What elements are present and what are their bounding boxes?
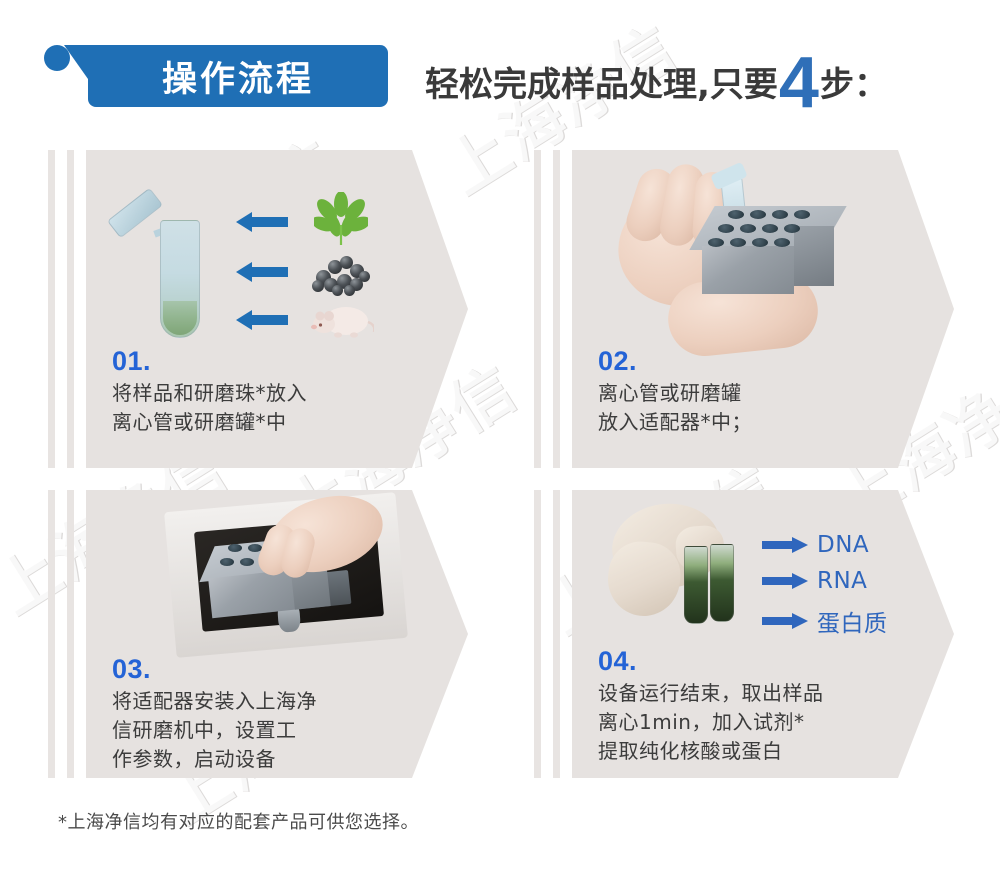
- output-label-protein: 蛋白质: [817, 604, 888, 638]
- adapter-block-front: [702, 246, 794, 294]
- infographic-page: 操作流程 轻松完成样品处理,只要 4 步：: [0, 0, 1000, 875]
- grinding-beads-icon: [312, 254, 370, 292]
- step-card-01: 01. 将样品和研磨珠*放入 离心管或研磨罐*中: [48, 150, 468, 468]
- card-accent-stripe-inner: [553, 490, 560, 778]
- output-row-protein: 蛋白质: [762, 604, 888, 638]
- lab-mouse-icon: [310, 300, 372, 340]
- tagline-text-post: 步：: [820, 62, 888, 108]
- output-arrow-rna-icon: [762, 573, 808, 589]
- tagline-step-count: 4: [779, 54, 819, 112]
- header-tagline: 轻松完成样品处理,只要 4 步：: [425, 44, 888, 108]
- output-row-rna: RNA: [762, 568, 867, 594]
- card-accent-stripe-inner: [553, 150, 560, 468]
- tube-sample-liquid: [163, 301, 197, 335]
- card-accent-stripe-inner: [67, 150, 74, 468]
- sample-vial-left: [684, 546, 708, 624]
- input-arrow-beads-icon: [236, 262, 288, 282]
- adapter-block-side: [794, 226, 834, 286]
- output-arrow-dna-icon: [762, 537, 808, 553]
- step-card-02: 02. 离心管或研磨罐 放入适配器*中；: [534, 150, 954, 468]
- card-accent-stripe-outer: [48, 490, 55, 778]
- output-arrow-protein-icon: [762, 613, 808, 629]
- footnote-text: *上海净信均有对应的配套产品可供您选择。: [58, 808, 419, 834]
- step-01-number: 01.: [112, 346, 307, 376]
- step-03-illustration: [86, 490, 468, 658]
- step-03-description: 将适配器安装入上海净 信研磨机中，设置工 作参数，启动设备: [112, 687, 317, 774]
- output-row-dna: DNA: [762, 532, 869, 558]
- input-arrow-leaf-icon: [236, 212, 288, 232]
- step-02-text-block: 02. 离心管或研磨罐 放入适配器*中；: [598, 346, 752, 437]
- step-card-03: 03. 将适配器安装入上海净 信研磨机中，设置工 作参数，启动设备: [48, 490, 468, 778]
- card-accent-stripe-outer: [48, 150, 55, 468]
- output-label-dna: DNA: [817, 532, 869, 558]
- card-body: DNA RNA 蛋白质: [572, 490, 954, 778]
- step-02-description: 离心管或研磨罐 放入适配器*中；: [598, 379, 752, 437]
- step-04-text-block: 04. 设备运行结束，取出样品 离心1min，加入试剂* 提取纯化核酸或蛋白: [598, 646, 824, 766]
- step-04-number: 04.: [598, 646, 824, 676]
- card-body: 02. 离心管或研磨罐 放入适配器*中；: [572, 150, 954, 468]
- card-body: 03. 将适配器安装入上海净 信研磨机中，设置工 作参数，启动设备: [86, 490, 468, 778]
- step-03-text-block: 03. 将适配器安装入上海净 信研磨机中，设置工 作参数，启动设备: [112, 654, 317, 774]
- step-02-number: 02.: [598, 346, 752, 376]
- card-accent-stripe-inner: [67, 490, 74, 778]
- step-04-description: 设备运行结束，取出样品 离心1min，加入试剂* 提取纯化核酸或蛋白: [598, 679, 824, 766]
- step-01-illustration: [86, 150, 468, 350]
- step-02-illustration: [572, 150, 954, 350]
- card-body: 01. 将样品和研磨珠*放入 离心管或研磨罐*中: [86, 150, 468, 468]
- step-01-description: 将样品和研磨珠*放入 离心管或研磨罐*中: [112, 379, 307, 437]
- step-04-illustration: DNA RNA 蛋白质: [572, 490, 954, 658]
- step-card-04: DNA RNA 蛋白质: [534, 490, 954, 778]
- sample-vial-right: [710, 544, 734, 622]
- section-title-banner: 操作流程: [88, 45, 388, 107]
- section-title-label: 操作流程: [88, 45, 388, 107]
- page-header: 操作流程 轻松完成样品处理,只要 4 步：: [0, 0, 1000, 140]
- step-01-text-block: 01. 将样品和研磨珠*放入 离心管或研磨罐*中: [112, 346, 307, 437]
- card-accent-stripe-outer: [534, 150, 541, 468]
- tagline-text-pre: 轻松完成样品处理,只要: [425, 62, 778, 108]
- step-03-number: 03.: [112, 654, 317, 684]
- plant-leaf-icon: [314, 192, 368, 242]
- centrifuge-tube-icon: [160, 220, 200, 338]
- input-arrow-mouse-icon: [236, 310, 288, 330]
- output-label-rna: RNA: [817, 568, 867, 594]
- card-accent-stripe-outer: [534, 490, 541, 778]
